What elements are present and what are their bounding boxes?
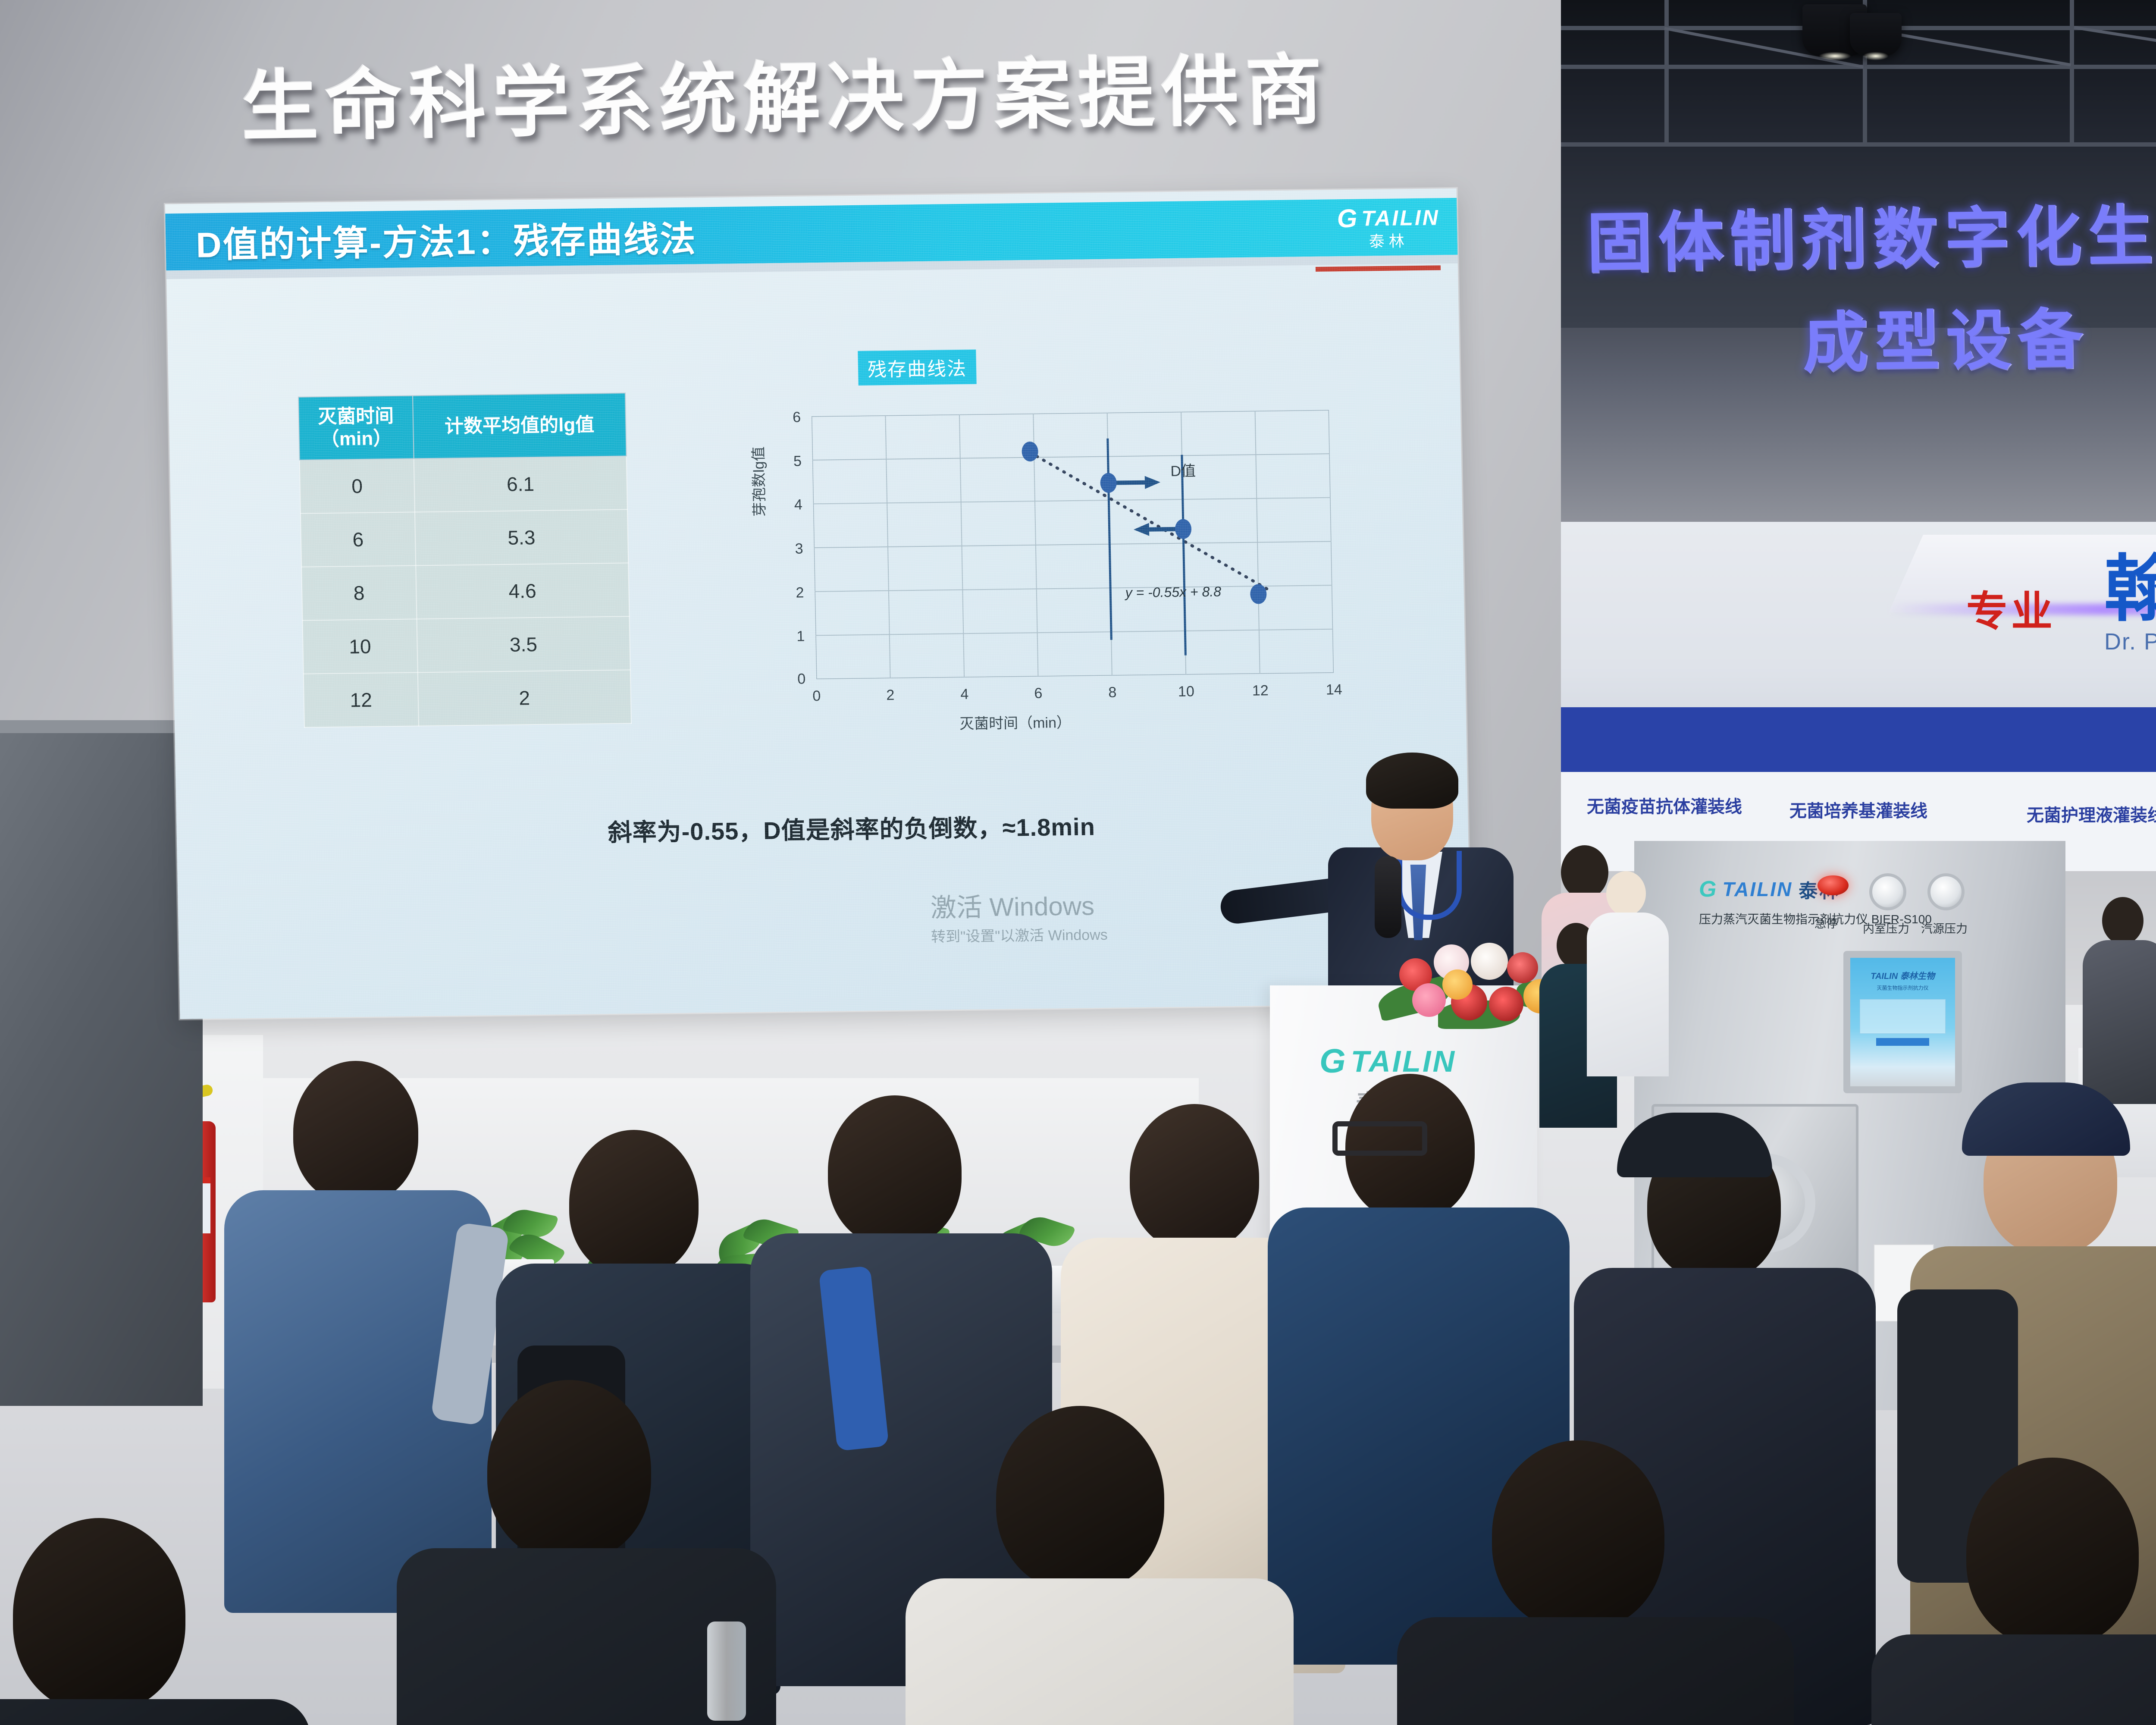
chart-annotation-equation: y = -0.55x + 8.8 bbox=[1125, 584, 1221, 601]
tailin-logo-mark-icon: G bbox=[1319, 1041, 1346, 1081]
tailin-logo-cn: 泰林 bbox=[1369, 233, 1409, 249]
booth-blue-band bbox=[1561, 707, 2156, 772]
chamber-pressure-gauge-icon bbox=[1869, 873, 1906, 910]
tailin-logo-mark-icon: G bbox=[1337, 206, 1357, 232]
eyeglasses-icon bbox=[1332, 1121, 1427, 1156]
table-row: 0 6.1 bbox=[300, 456, 627, 513]
table-cell-lg: 5.3 bbox=[415, 509, 629, 565]
windows-watermark-line1: 激活 Windows bbox=[930, 887, 1107, 927]
steam-pressure-gauge-icon bbox=[1927, 873, 1965, 910]
booth-line-label-2: 无菌护理液灌装线 bbox=[2027, 801, 2156, 826]
chart-point bbox=[1175, 519, 1192, 539]
table-cell-lg: 3.5 bbox=[417, 616, 630, 672]
survivor-curve-chart: 残存曲线法 芽孢数lg值 灭菌时间（min） bbox=[728, 344, 1409, 809]
chart-ytick: 6 bbox=[775, 409, 801, 426]
hmi-login-button[interactable] bbox=[1876, 1038, 1929, 1046]
table-cell-time: 0 bbox=[300, 458, 415, 513]
slide-conclusion-text: 斜率为-0.55，D值是斜率的负倒数，≈1.8min bbox=[608, 807, 1096, 848]
chart-ytick: 4 bbox=[776, 496, 802, 514]
windows-watermark-line2: 转到"设置"以激活 Windows bbox=[931, 925, 1108, 948]
emergency-stop-label: 急停 bbox=[1814, 914, 1838, 931]
neighbor-booth-led-sign: 固体制剂数字化生产商 成型设备 bbox=[1491, 179, 2156, 342]
chart-ytick: 1 bbox=[779, 628, 805, 645]
chart-title: 残存曲线法 bbox=[858, 349, 976, 385]
booth-line-label-0: 无菌疫苗抗体灌装线 bbox=[1587, 793, 1742, 818]
chart-svg bbox=[812, 410, 1334, 680]
booth-line-label-1: 无菌培养基灌装线 bbox=[1789, 797, 1927, 822]
table-header-row: 灭菌时间 （min） 计数平均值的lg值 bbox=[298, 393, 627, 460]
slide-title: D值的计算-方法1：残存曲线法 bbox=[195, 210, 697, 267]
chart-xtick: 4 bbox=[952, 686, 978, 703]
chart-xtick: 8 bbox=[1100, 684, 1126, 701]
table-cell-time: 8 bbox=[301, 565, 417, 620]
machine-hmi-panel[interactable]: TAILIN 泰林生物 灭菌生物指示剂抗力仪 bbox=[1843, 951, 1962, 1093]
table-cell-lg: 2 bbox=[417, 670, 631, 726]
table-header-time-line1: 灭菌时间 bbox=[303, 405, 408, 429]
neighbor-booth-line1: 固体制剂数字化生产商 bbox=[1491, 179, 2156, 286]
chart-xtick: 2 bbox=[877, 687, 904, 704]
chart-gridlines-horizontal bbox=[812, 454, 1333, 635]
chart-trendline bbox=[1030, 449, 1272, 595]
chart-ytick: 3 bbox=[777, 540, 803, 558]
hmi-subtitle: 灭菌生物指示剂抗力仪 bbox=[1850, 984, 1955, 991]
table-header-time-line2: （min） bbox=[304, 427, 409, 451]
neighbor-booth-line2: 成型设备 bbox=[1492, 282, 2156, 389]
slide-tailin-logo: G TAILIN 泰林 bbox=[1337, 204, 1440, 250]
windows-activation-watermark: 激活 Windows 转到"设置"以激活 Windows bbox=[930, 887, 1108, 948]
drpharm-logo-en: Dr. Pharm bbox=[2104, 628, 2156, 655]
presenter-lanyard bbox=[1397, 851, 1462, 920]
chart-annotation-dvalue: D值 bbox=[1170, 459, 1196, 480]
water-bottle bbox=[707, 1621, 746, 1721]
emergency-stop-button[interactable] bbox=[1818, 875, 1849, 895]
drpharm-logo: 翰 Dr. Pharm bbox=[2104, 530, 2156, 655]
chart-point bbox=[1100, 473, 1117, 493]
chart-arrow-right-icon bbox=[1115, 476, 1161, 489]
table-row: 10 3.5 bbox=[303, 616, 630, 674]
hmi-screen[interactable]: TAILIN 泰林生物 灭菌生物指示剂抗力仪 bbox=[1850, 958, 1955, 1086]
chart-xtick: 0 bbox=[804, 688, 830, 705]
chamber-pressure-label: 内室压力 bbox=[1863, 919, 1909, 936]
slide-header-bar: D值的计算-方法1：残存曲线法 G TAILIN 泰林 bbox=[165, 198, 1457, 271]
hmi-brand-label: TAILIN 泰林生物 bbox=[1850, 958, 1955, 982]
drpharm-logo-cn: 翰 bbox=[2104, 530, 2156, 635]
table-cell-time: 10 bbox=[303, 619, 418, 674]
table-cell-lg: 6.1 bbox=[414, 456, 627, 512]
table-cell-time: 6 bbox=[301, 512, 416, 567]
chart-y-axis-label: 芽孢数lg值 bbox=[746, 446, 769, 517]
ceiling-spotlight-icon bbox=[1850, 13, 1902, 56]
chart-data-points bbox=[1022, 439, 1267, 607]
table-cell-time: 12 bbox=[304, 672, 419, 727]
table-row: 8 4.6 bbox=[301, 563, 629, 620]
table-row: 12 2 bbox=[304, 670, 631, 727]
table-cell-lg: 4.6 bbox=[416, 563, 630, 619]
tailin-logo-word: TAILIN bbox=[1351, 1044, 1456, 1079]
d-value-data-table: 灭菌时间 （min） 计数平均值的lg值 0 6.1 6 5.3 8 4.6 bbox=[298, 392, 632, 728]
chart-ytick: 5 bbox=[776, 453, 802, 470]
table-row: 6 5.3 bbox=[301, 509, 628, 567]
chart-xtick: 6 bbox=[1025, 685, 1052, 702]
exhibition-presentation-scene: 生命科学系统解决方案提供商 固体制剂数字化生产商 成型设备 专业 翰 Dr. P… bbox=[0, 0, 2156, 1725]
steam-pressure-label: 汽源压力 bbox=[1921, 919, 1968, 936]
tailin-logo-word: TAILIN bbox=[1361, 207, 1440, 229]
hmi-login-form[interactable] bbox=[1860, 999, 1946, 1034]
chart-x-axis-label: 灭菌时间（min） bbox=[959, 711, 1072, 733]
tailin-logo-word: TAILIN bbox=[1722, 878, 1792, 901]
chart-point bbox=[1250, 584, 1267, 604]
chart-plot-area: D值 y = -0.55x + 8.8 bbox=[812, 410, 1334, 680]
chart-point bbox=[1022, 442, 1038, 461]
tailin-logo-mark-icon: G bbox=[1699, 876, 1716, 902]
chart-xtick: 12 bbox=[1247, 682, 1274, 699]
booth-wall-title: 生命科学系统解决方案提供商 bbox=[241, 36, 1406, 147]
logo-red-underline bbox=[1316, 265, 1441, 272]
chart-xtick: 14 bbox=[1321, 681, 1347, 699]
neighbor-booth-badge: 专业 bbox=[1966, 578, 2056, 638]
chart-ytick: 2 bbox=[778, 584, 804, 602]
table-header-lg: 计数平均值的lg值 bbox=[413, 393, 627, 458]
chart-xtick: 10 bbox=[1173, 683, 1200, 700]
chart-ytick: 0 bbox=[780, 671, 806, 688]
table-header-time: 灭菌时间 （min） bbox=[298, 395, 414, 460]
presenter-hair bbox=[1366, 753, 1458, 809]
left-equipment-panel bbox=[0, 733, 203, 1406]
